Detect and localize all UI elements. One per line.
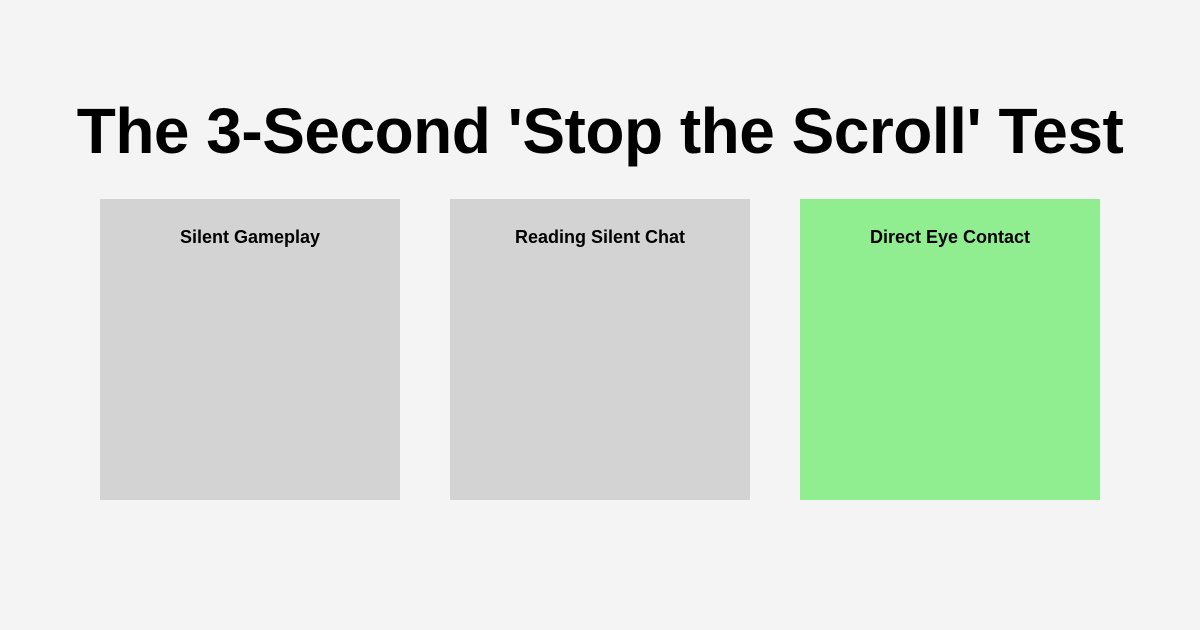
poster-canvas: The 3-Second 'Stop the Scroll' Test Sile… — [0, 0, 1200, 630]
option-card-body — [810, 249, 1090, 469]
card-row: Silent Gameplay Reading Silent Chat Dire… — [100, 199, 1100, 500]
option-card-silent-gameplay[interactable]: Silent Gameplay — [100, 199, 400, 500]
page-title: The 3-Second 'Stop the Scroll' Test — [0, 99, 1200, 163]
option-card-body — [110, 249, 390, 469]
option-card-label: Reading Silent Chat — [460, 227, 740, 249]
option-card-direct-eye-contact[interactable]: Direct Eye Contact — [800, 199, 1100, 500]
option-card-label: Direct Eye Contact — [810, 227, 1090, 249]
option-card-label: Silent Gameplay — [110, 227, 390, 249]
option-card-body — [460, 249, 740, 469]
option-card-reading-silent-chat[interactable]: Reading Silent Chat — [450, 199, 750, 500]
